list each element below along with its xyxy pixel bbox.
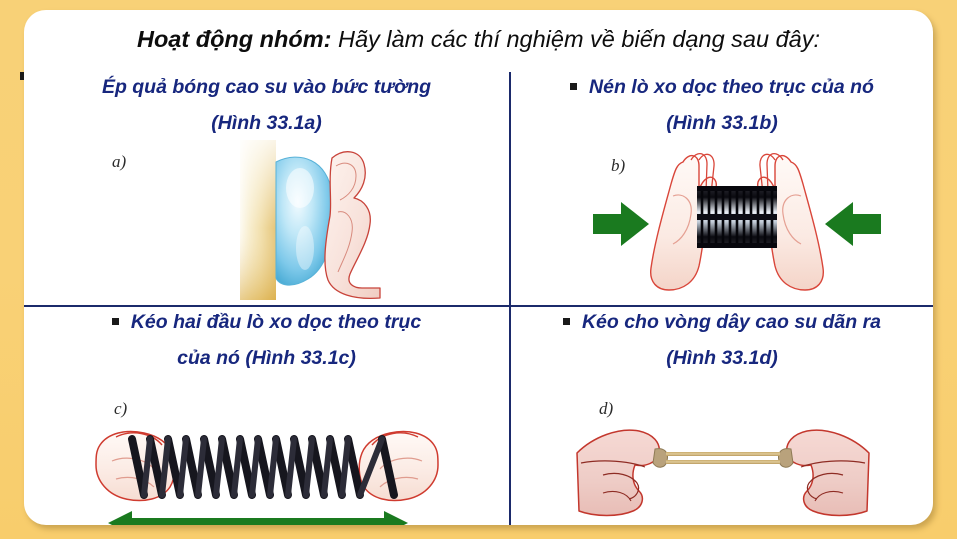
quadrant-b-title: Nén lò xo dọc theo trục của nó (Hình 33.… [511,72,933,133]
quadrant-c-title-line1-text: Kéo hai đầu lò xo dọc theo trục [131,311,421,333]
quadrant-c-title-line2: của nó (Hình 33.1c) [24,349,509,369]
quadrant-a: Ép quả bóng cao su vào bức tường (Hình 3… [24,72,509,305]
rubber-band [653,449,793,468]
quadrant-a-title-line1: Ép quả bóng cao su vào bức tường [24,78,509,98]
quadrant-c-title-line1: Kéo hai đầu lò xo dọc theo trục [24,313,509,333]
slide-canvas: Hoạt động nhóm: Hãy làm các thí nghiệm v… [0,0,957,539]
quadrant-b-title-line1: Nén lò xo dọc theo trục của nó [511,78,933,98]
quadrant-d-title: Kéo cho vòng dây cao su dãn ra (Hình 33.… [511,307,933,368]
quadrant-d: Kéo cho vòng dây cao su dãn ra (Hình 33.… [511,307,933,525]
quadrant-c-title: Kéo hai đầu lò xo dọc theo trục của nó (… [24,307,509,368]
slide-header: Hoạt động nhóm: Hãy làm các thí nghiệm v… [24,26,933,53]
figure-rubber-band-stretched [573,419,873,525]
quadrant-a-title-line2: (Hình 33.1a) [24,114,509,134]
bullet-marker-quadrant-d [563,318,570,325]
quadrant-b-title-line2: (Hình 33.1b) [511,114,933,134]
panel-letter-d: d) [599,399,613,419]
arrow-double-stretch [98,507,418,525]
quadrant-c: Kéo hai đầu lò xo dọc theo trục của nó (… [24,307,509,525]
bullet-marker-quadrant-c [112,318,119,325]
figure-ball-pressed-against-wall [204,138,404,303]
quadrant-d-title-line1: Kéo cho vòng dây cao su dãn ra [511,313,933,333]
quadrant-a-title: Ép quả bóng cao su vào bức tường (Hình 3… [24,72,509,133]
header-bold-label: Hoạt động nhóm: [137,26,331,52]
header-rest-label: Hãy làm các thí nghiệm về biến dạng sau … [331,26,820,52]
quadrant-d-title-line1-text: Kéo cho vòng dây cao su dãn ra [582,311,881,333]
content-card: Hoạt động nhóm: Hãy làm các thí nghiệm v… [24,10,933,525]
figure-spring-compressed [587,144,887,304]
bullet-marker-quadrant-b [570,83,577,90]
arrow-right-compress [825,202,881,246]
quadrant-b: Nén lò xo dọc theo trục của nó (Hình 33.… [511,72,933,305]
spring-coils-stretched [132,439,394,495]
spring-coils-compressed [697,186,777,248]
quadrant-b-title-line1-text: Nén lò xo dọc theo trục của nó [589,76,874,98]
quadrant-d-title-line2: (Hình 33.1d) [511,349,933,369]
panel-letter-a: a) [112,152,126,172]
arrow-left-compress [593,202,649,246]
